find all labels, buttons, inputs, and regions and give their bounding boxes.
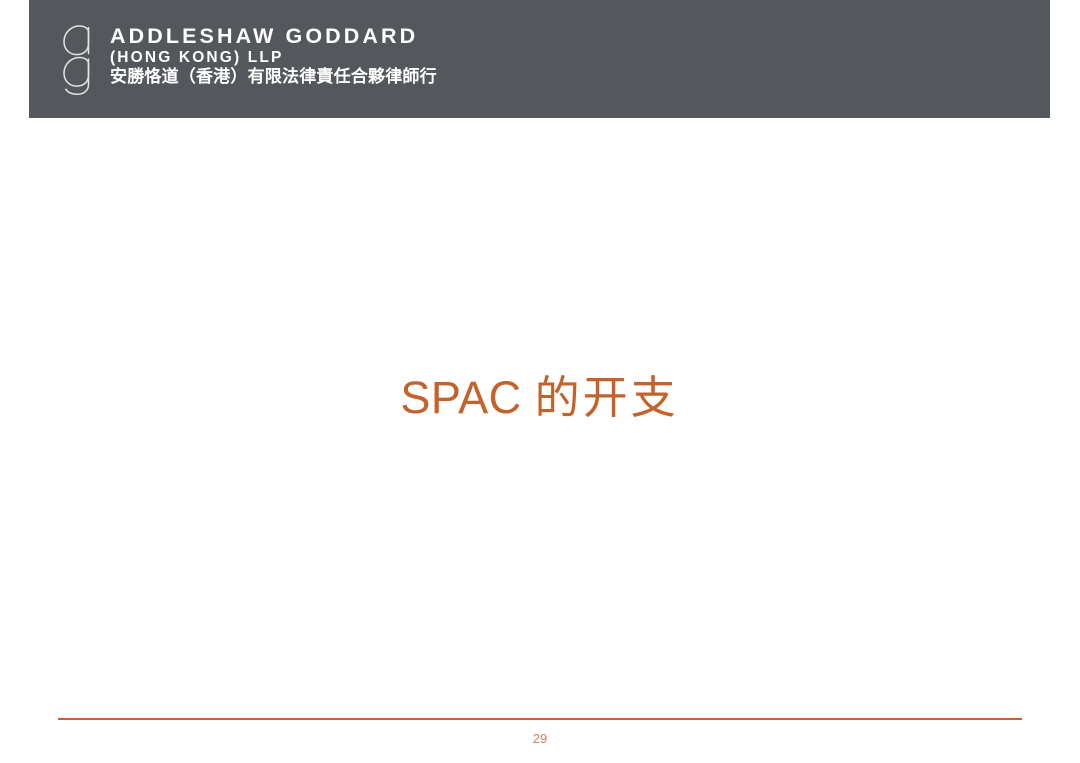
slide-body: SPAC 的开支 [29,118,1050,708]
ag-monogram-icon [58,24,100,96]
header-band: ADDLESHAW GODDARD (HONG KONG) LLP 安勝恪道（香… [29,0,1050,118]
slide-canvas: ADDLESHAW GODDARD (HONG KONG) LLP 安勝恪道（香… [0,0,1080,763]
section-title-latin: SPAC [400,372,534,423]
brand-lockup: ADDLESHAW GODDARD (HONG KONG) LLP 安勝恪道（香… [58,23,437,96]
section-title-cjk: 的开支 [535,371,679,424]
page-number: 29 [58,730,1022,747]
brand-name-entity: (HONG KONG) LLP [110,48,437,67]
brand-text-block: ADDLESHAW GODDARD (HONG KONG) LLP 安勝恪道（香… [110,23,437,88]
brand-name-chinese: 安勝恪道（香港）有限法律責任合夥律師行 [110,67,437,88]
section-title: SPAC 的开支 [29,369,1050,427]
footer-divider [58,718,1022,720]
brand-name-primary: ADDLESHAW GODDARD [110,25,437,48]
